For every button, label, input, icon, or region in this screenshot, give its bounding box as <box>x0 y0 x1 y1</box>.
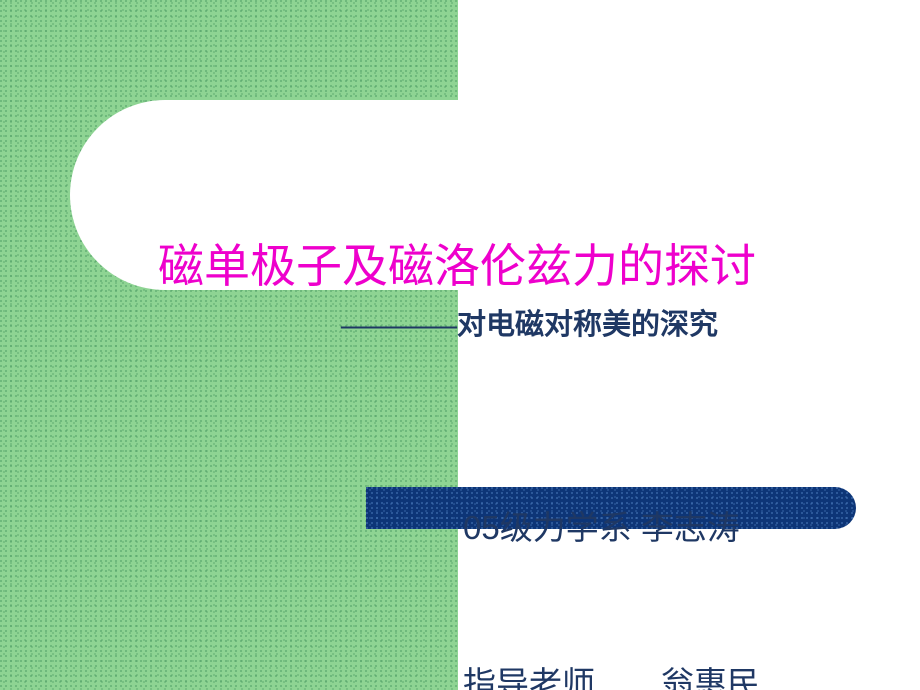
author-block: 05级力学系 李志涛 指导老师 翁惠民 <box>463 398 760 690</box>
slide-title: 磁单极子及磁洛伦兹力的探讨 <box>158 240 756 294</box>
slide-subtitle: ————对电磁对称美的深究 <box>341 307 718 343</box>
advisor-line: 指导老师 翁惠民 <box>463 658 760 690</box>
title-slide: 磁单极子及磁洛伦兹力的探讨 ————对电磁对称美的深究 05级力学系 李志涛 指… <box>0 0 920 690</box>
presenter-line: 05级力学系 李志涛 <box>463 502 760 554</box>
